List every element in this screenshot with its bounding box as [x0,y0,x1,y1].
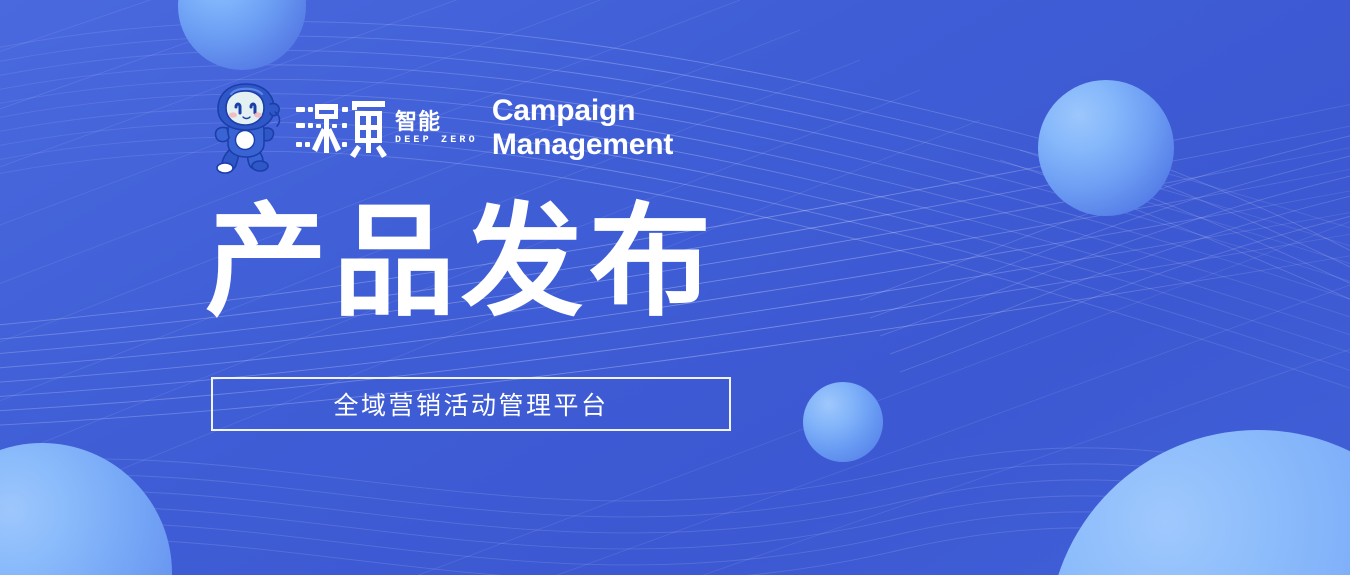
product-name: Campaign Management [492,94,673,162]
brand-sub-en: DEEP ZERO [395,135,478,147]
page-title: 产品发布 [205,192,717,332]
brand-sub-cn: 智能 [395,109,478,135]
banner-content: 智能 DEEP ZERO Campaign Management 产品发布 全域… [0,0,1350,575]
subtitle-text: 全域营销活动管理平台 [333,386,608,422]
shenyan-wordmark-logo [295,95,387,161]
product-launch-banner: 智能 DEEP ZERO Campaign Management 产品发布 全域… [0,0,1350,575]
product-name-line-1: Campaign [492,94,673,128]
brand-logo-lockup: 智能 DEEP ZERO Campaign Management [207,82,673,174]
robot-mascot-icon [207,82,285,174]
subtitle-frame: 全域营销活动管理平台 [211,377,731,431]
brand-sub-lockup: 智能 DEEP ZERO [395,97,478,159]
product-name-line-2: Management [492,128,673,162]
